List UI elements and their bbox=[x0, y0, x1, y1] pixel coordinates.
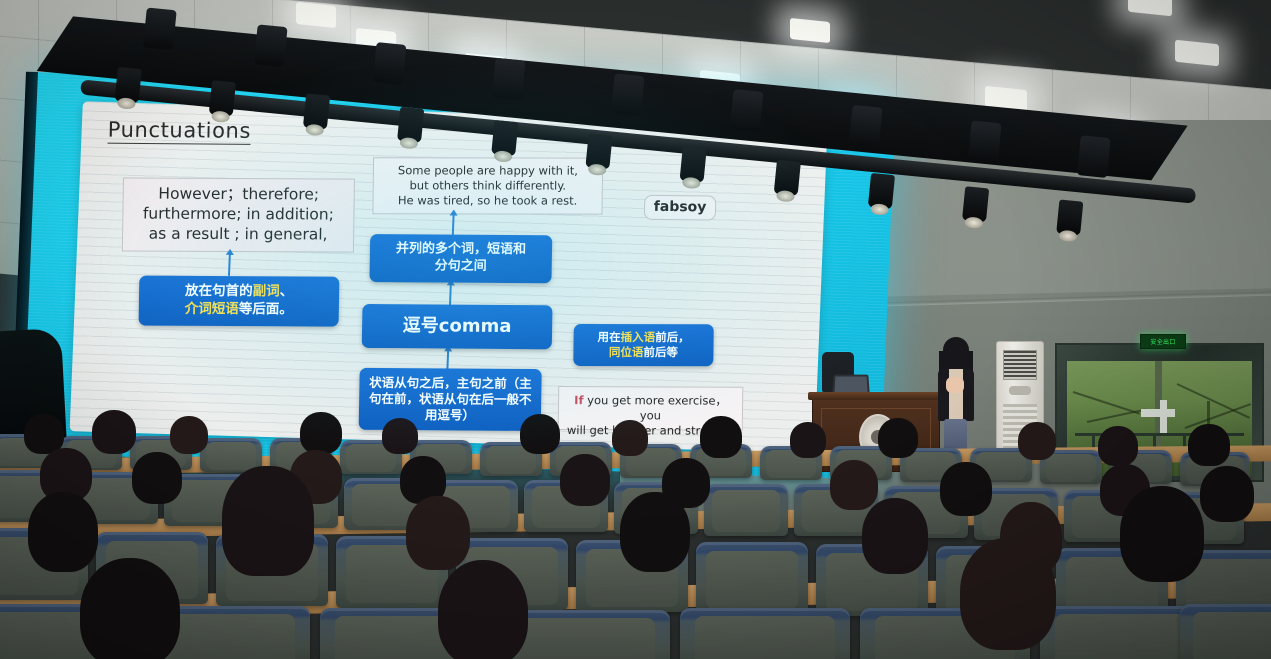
audience-head bbox=[132, 452, 182, 504]
audience-head bbox=[560, 454, 610, 506]
audience-head bbox=[406, 496, 470, 570]
stage-light bbox=[968, 121, 1002, 164]
connector-arrow bbox=[228, 254, 230, 276]
center-topic-text: 逗号comma bbox=[403, 315, 512, 339]
seat[interactable] bbox=[704, 484, 788, 536]
audience-head bbox=[620, 492, 690, 572]
ceiling-panel-light bbox=[790, 18, 830, 43]
stage-light bbox=[492, 58, 526, 101]
audience-head bbox=[222, 466, 314, 576]
audience-head bbox=[878, 418, 918, 458]
stage-light bbox=[962, 186, 989, 222]
presenter-hands bbox=[946, 377, 964, 393]
stage-light bbox=[491, 120, 518, 156]
audience-head bbox=[960, 538, 1056, 650]
seat-front[interactable] bbox=[680, 608, 850, 659]
ac-vent-icon bbox=[1003, 350, 1037, 380]
stage-light bbox=[303, 93, 330, 129]
seat-front[interactable] bbox=[1180, 604, 1271, 659]
connector-arrow bbox=[452, 214, 454, 236]
audience-seating bbox=[0, 408, 1271, 659]
stage-light bbox=[373, 42, 407, 85]
ceiling-panel-light bbox=[1175, 40, 1219, 67]
audience-head bbox=[700, 416, 742, 458]
ac-logo bbox=[1009, 386, 1031, 395]
rule-box-parallel-items: 并列的多个词，短语和 分句之间 bbox=[369, 234, 552, 283]
rule-box-adverbial-position: 放在句首的副词、 介词短语等后面。 bbox=[139, 276, 340, 327]
audience-head bbox=[1018, 422, 1056, 460]
audience-head bbox=[28, 492, 98, 572]
stage-light bbox=[209, 80, 236, 116]
stage-light bbox=[730, 89, 764, 132]
podium-top bbox=[808, 392, 942, 400]
connector-arrow bbox=[446, 350, 448, 370]
stage-light bbox=[115, 67, 142, 103]
highlight-jieci: 介词短语 bbox=[185, 301, 239, 317]
presenter-hair-top bbox=[943, 337, 969, 373]
audience-head bbox=[520, 414, 560, 454]
audience-head bbox=[612, 420, 648, 456]
highlight-charuyu: 插入语 bbox=[621, 330, 656, 344]
audience-head bbox=[382, 418, 418, 454]
audience-head bbox=[862, 498, 928, 574]
audience-head bbox=[790, 422, 826, 458]
stage-light bbox=[397, 107, 424, 143]
seat[interactable] bbox=[696, 542, 808, 614]
audience-head bbox=[170, 416, 208, 454]
stage-light bbox=[254, 24, 288, 67]
connector-arrow bbox=[449, 284, 451, 306]
lecture-hall-photo: 安全出口 Punctuations However；therefore; fur… bbox=[0, 0, 1271, 659]
stage-light bbox=[585, 133, 612, 169]
rule-adverbial-text: 放在句首的副词、 介词短语等后面。 bbox=[185, 283, 294, 319]
rule-box-insertion: 用在插入语前后， 同位语前后等 bbox=[573, 324, 714, 366]
center-topic-comma: 逗号comma bbox=[362, 304, 553, 349]
stage-light bbox=[143, 7, 177, 50]
stage-light bbox=[1077, 135, 1111, 178]
highlight-tongweiyu: 同位语 bbox=[609, 345, 644, 359]
audience-head bbox=[1098, 426, 1138, 466]
audience-head bbox=[1188, 424, 1230, 466]
audience-head bbox=[80, 558, 180, 659]
highlight-fuci: 副词 bbox=[252, 284, 279, 300]
rule-insert-text: 用在插入语前后， 同位语前后等 bbox=[597, 330, 689, 360]
audience-head bbox=[1200, 466, 1254, 522]
rule-parallel-text: 并列的多个词，短语和 分句之间 bbox=[396, 241, 527, 276]
stage-light bbox=[611, 73, 645, 116]
audience-head bbox=[830, 460, 878, 510]
audience-head bbox=[940, 462, 992, 516]
stage-light bbox=[1056, 199, 1083, 235]
stage-light bbox=[774, 160, 801, 196]
stage-light bbox=[849, 105, 883, 148]
example-connectives-text: However；therefore; furthermore; in addit… bbox=[142, 185, 334, 245]
audience-head bbox=[300, 412, 342, 454]
stage-light bbox=[868, 173, 895, 209]
exit-sign: 安全出口 bbox=[1140, 334, 1186, 349]
laptop-screen bbox=[834, 376, 867, 392]
stage-light bbox=[680, 146, 707, 182]
ceiling-panel-light bbox=[1128, 0, 1172, 16]
audience-head bbox=[1120, 486, 1204, 582]
audience-head bbox=[438, 560, 528, 659]
audience-head bbox=[92, 410, 136, 454]
